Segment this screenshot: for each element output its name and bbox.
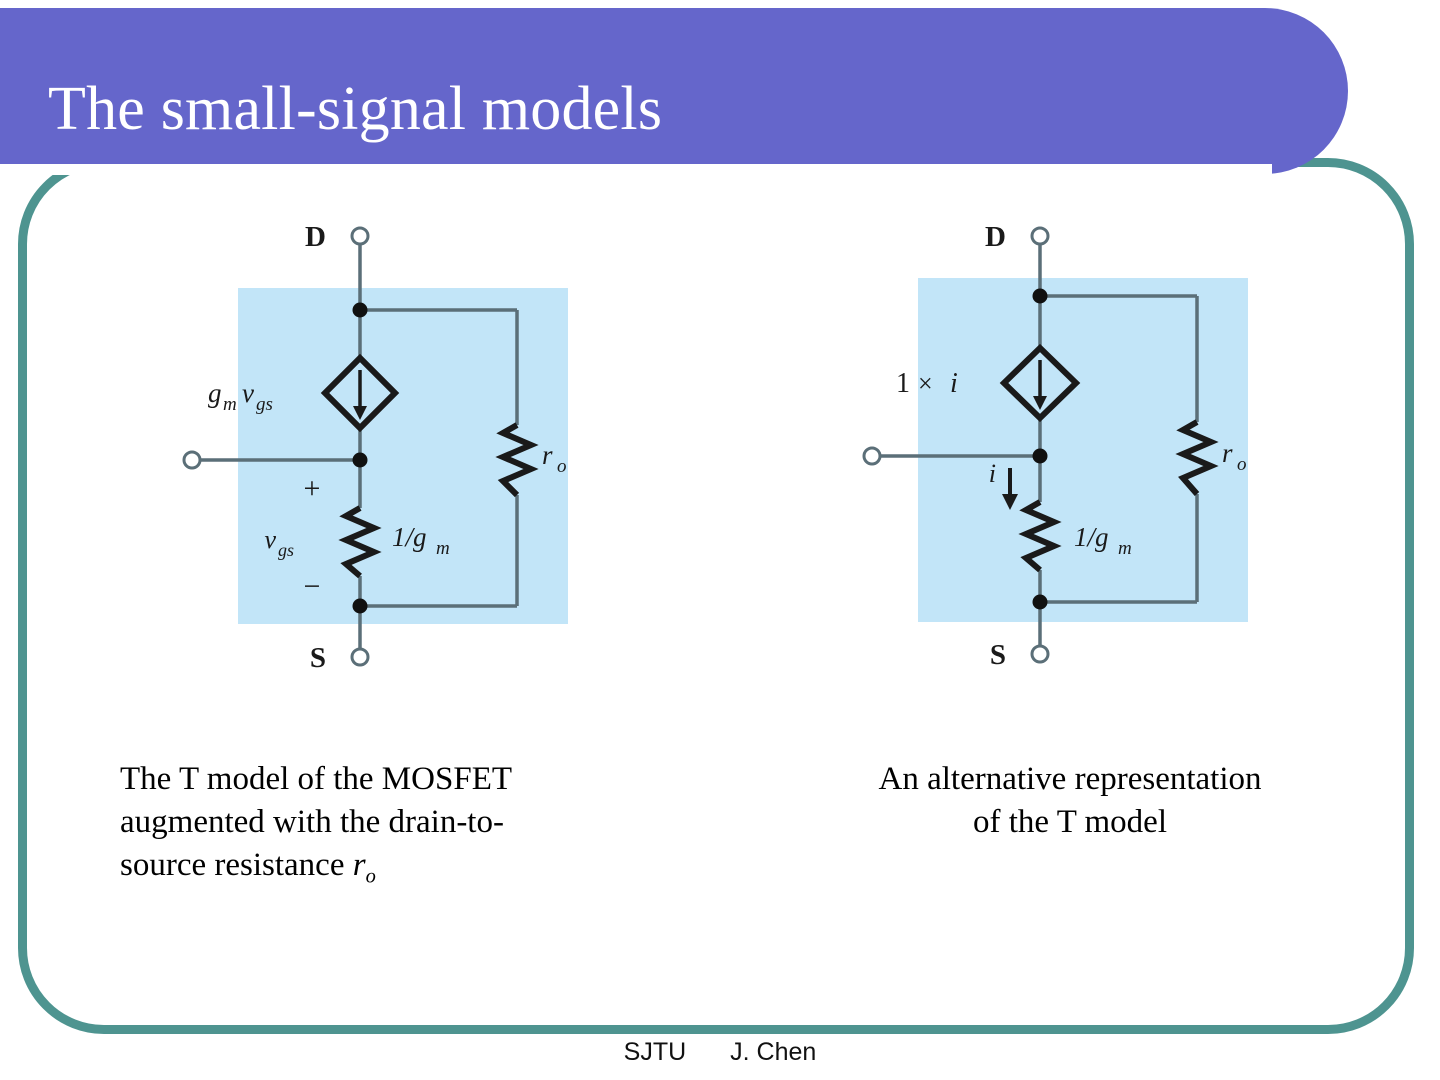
terminal-label-drain: D — [305, 221, 326, 253]
label-gm-g: g — [208, 378, 222, 408]
label-source-multiplier: 1 — [896, 368, 910, 399]
terminal-source-node — [352, 649, 368, 665]
terminal-label-source: S — [310, 642, 326, 674]
label-vgs-resistor-v: v — [264, 525, 276, 554]
terminal-drain-node — [352, 228, 368, 244]
junction-dot-gate — [1033, 449, 1048, 464]
label-vgs-sub: gs — [256, 394, 273, 415]
label-source-current-var: i — [950, 368, 958, 399]
slide-footer: SJTU J. Chen — [0, 1038, 1440, 1067]
junction-dot-gate — [353, 453, 368, 468]
caption-left-symbol-sub-o: o — [366, 865, 376, 887]
terminal-drain-node — [1032, 228, 1048, 244]
terminal-gate-node — [864, 448, 880, 464]
circuit-diagram-left: D S G g m v gs + − v gs 1/g m — [160, 210, 640, 680]
terminal-source-node — [1032, 646, 1048, 662]
caption-left-line3: source resistance ro — [120, 844, 720, 890]
footer-institution: SJTU — [624, 1038, 687, 1067]
circuit-diagram-right: i D S G 1 × i 1/g m r o — [840, 210, 1320, 680]
caption-left-symbol-r: r — [353, 847, 366, 883]
polarity-plus-sign: + — [304, 472, 321, 505]
caption-right-line2: of the T model — [770, 801, 1370, 844]
footer-author: J. Chen — [730, 1038, 816, 1067]
label-vgs-resistor-sub: gs — [278, 540, 294, 560]
caption-right-figure: An alternative representation of the T m… — [770, 758, 1370, 844]
label-output-resistor-main: r — [542, 440, 553, 470]
footer-separator — [686, 1038, 730, 1067]
label-series-resistor-sub: m — [1118, 538, 1132, 559]
terminal-label-drain: D — [985, 221, 1006, 253]
page-title: The small-signal models — [48, 78, 662, 140]
caption-left-figure: The T model of the MOSFET augmented with… — [120, 758, 720, 890]
times-icon: × — [918, 369, 933, 398]
label-vgs-v: v — [242, 378, 254, 408]
junction-dot-drain — [353, 303, 368, 318]
label-output-resistor-main: r — [1222, 438, 1233, 468]
label-series-resistor-sub: m — [436, 538, 450, 559]
junction-dot-source — [1033, 595, 1048, 610]
terminal-label-source: S — [990, 639, 1006, 671]
caption-left-line2: augmented with the drain-to- — [120, 801, 720, 844]
label-output-resistor-sub: o — [557, 456, 567, 477]
label-series-resistor-main: 1/g — [392, 522, 427, 552]
label-series-resistor-main: 1/g — [1074, 522, 1109, 552]
label-gm-sub: m — [223, 394, 237, 415]
caption-right-line1: An alternative representation — [770, 758, 1370, 801]
label-output-resistor-sub: o — [1237, 454, 1247, 475]
label-branch-current: i — [989, 459, 996, 488]
figure-t-model-alternative: i D S G 1 × i 1/g m r o — [840, 210, 1320, 680]
polarity-minus-sign: − — [304, 570, 321, 603]
caption-left-line3-text: source resistance — [120, 847, 353, 883]
figure-t-model-with-ro: D S G g m v gs + − v gs 1/g m — [160, 210, 640, 680]
title-underline-rule — [0, 164, 1272, 175]
caption-left-line1: The T model of the MOSFET — [120, 758, 720, 801]
terminal-gate-node — [184, 452, 200, 468]
junction-dot-source — [353, 599, 368, 614]
junction-dot-drain — [1033, 289, 1048, 304]
